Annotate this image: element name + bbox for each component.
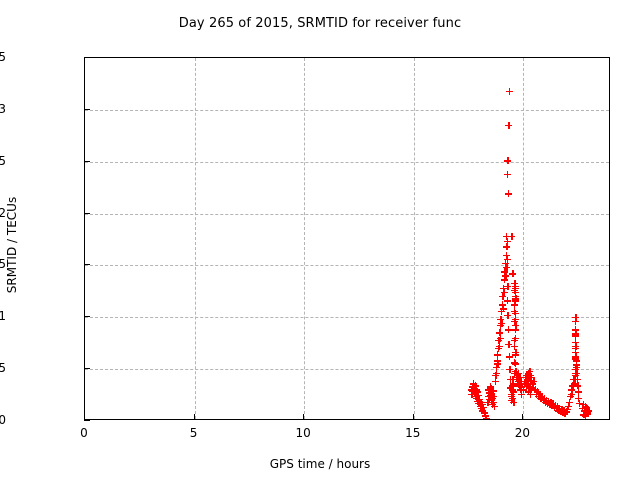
data-point bbox=[501, 276, 508, 283]
data-point bbox=[536, 391, 543, 398]
data-point bbox=[512, 322, 519, 329]
data-point bbox=[504, 283, 511, 290]
y-tick-label: 1.5 bbox=[0, 257, 6, 271]
data-point bbox=[471, 385, 478, 392]
data-point bbox=[551, 404, 558, 411]
data-point bbox=[509, 270, 516, 277]
data-point bbox=[488, 391, 495, 398]
data-point bbox=[491, 403, 498, 410]
data-point bbox=[572, 370, 579, 377]
data-point bbox=[535, 393, 542, 400]
data-point bbox=[585, 407, 592, 414]
data-point bbox=[573, 361, 580, 368]
data-point bbox=[525, 370, 532, 377]
data-point bbox=[494, 360, 501, 367]
data-point bbox=[483, 418, 490, 421]
data-point bbox=[584, 408, 591, 415]
data-point bbox=[503, 252, 510, 259]
data-point bbox=[469, 383, 476, 390]
data-point bbox=[516, 374, 523, 381]
data-point bbox=[515, 370, 522, 377]
x-tick-label: 5 bbox=[190, 426, 198, 440]
data-point bbox=[575, 395, 582, 402]
data-point bbox=[511, 343, 518, 350]
data-point bbox=[580, 411, 587, 418]
x-tick-label: 0 bbox=[80, 426, 88, 440]
data-point bbox=[469, 387, 476, 394]
data-point bbox=[572, 330, 579, 337]
data-point bbox=[504, 171, 511, 178]
data-point bbox=[515, 376, 522, 383]
data-point bbox=[512, 289, 519, 296]
data-point bbox=[515, 378, 522, 385]
plot-area bbox=[84, 57, 610, 420]
data-point bbox=[574, 376, 581, 383]
data-point bbox=[527, 378, 534, 385]
data-point bbox=[543, 397, 550, 404]
data-point bbox=[575, 388, 582, 395]
data-point bbox=[556, 405, 563, 412]
data-point bbox=[492, 378, 499, 385]
data-point bbox=[506, 88, 513, 95]
x-tick-mark bbox=[84, 414, 85, 420]
data-point bbox=[505, 190, 512, 197]
data-point bbox=[486, 389, 493, 396]
data-point bbox=[499, 293, 506, 300]
data-point bbox=[572, 326, 579, 333]
data-point bbox=[508, 391, 515, 398]
data-point bbox=[472, 393, 479, 400]
data-point bbox=[580, 401, 587, 408]
y-tick-mark bbox=[84, 57, 90, 58]
data-point bbox=[475, 400, 482, 407]
x-tick-label: 15 bbox=[405, 426, 420, 440]
data-point bbox=[481, 409, 488, 416]
data-point bbox=[488, 397, 495, 404]
data-point bbox=[494, 357, 501, 364]
data-point bbox=[483, 416, 490, 420]
data-point bbox=[508, 397, 515, 404]
data-point bbox=[474, 388, 481, 395]
data-point bbox=[504, 297, 511, 304]
data-point bbox=[487, 383, 494, 390]
data-point bbox=[583, 405, 590, 412]
y-tick-mark bbox=[84, 213, 90, 214]
data-point bbox=[507, 384, 514, 391]
data-point bbox=[500, 285, 507, 292]
data-point bbox=[512, 349, 519, 356]
data-point bbox=[546, 401, 553, 408]
data-point bbox=[529, 384, 536, 391]
data-point bbox=[477, 403, 484, 410]
gridline-horizontal bbox=[85, 369, 609, 370]
data-point bbox=[584, 410, 591, 417]
y-tick-mark bbox=[84, 264, 90, 265]
data-point bbox=[479, 401, 486, 408]
data-point bbox=[523, 372, 530, 379]
data-point bbox=[582, 403, 589, 410]
data-point bbox=[552, 402, 559, 409]
data-point bbox=[512, 297, 519, 304]
data-point bbox=[505, 341, 512, 348]
data-point bbox=[497, 322, 504, 329]
data-point bbox=[516, 382, 523, 389]
data-point bbox=[512, 285, 519, 292]
data-point bbox=[572, 318, 579, 325]
data-point bbox=[572, 332, 579, 339]
data-point bbox=[489, 401, 496, 408]
data-point bbox=[511, 337, 518, 344]
y-tick-label: 0.5 bbox=[0, 361, 6, 375]
data-point bbox=[530, 378, 537, 385]
data-point bbox=[473, 395, 480, 402]
data-point bbox=[509, 395, 516, 402]
x-tick-mark bbox=[522, 414, 523, 420]
data-point bbox=[554, 403, 561, 410]
data-point bbox=[511, 318, 518, 325]
data-point bbox=[499, 301, 506, 308]
data-point bbox=[512, 295, 519, 302]
data-point bbox=[468, 386, 475, 393]
data-point bbox=[484, 399, 491, 406]
gridline-horizontal bbox=[85, 317, 609, 318]
data-point bbox=[498, 320, 505, 327]
y-axis-label: SRMTID / TECUs bbox=[5, 65, 19, 425]
data-point bbox=[470, 380, 477, 387]
data-point bbox=[526, 384, 533, 391]
data-point bbox=[512, 293, 519, 300]
data-point bbox=[473, 386, 480, 393]
data-point bbox=[561, 410, 568, 417]
data-point bbox=[494, 351, 501, 358]
data-point bbox=[489, 395, 496, 402]
x-axis-label: GPS time / hours bbox=[0, 457, 640, 471]
data-point bbox=[480, 404, 487, 411]
data-point bbox=[538, 393, 545, 400]
data-point bbox=[573, 357, 580, 364]
data-point bbox=[501, 268, 508, 275]
data-point bbox=[498, 308, 505, 315]
data-point bbox=[504, 256, 511, 263]
data-point bbox=[503, 243, 510, 250]
y-tick-mark bbox=[84, 161, 90, 162]
data-point bbox=[579, 405, 586, 412]
x-tick-mark bbox=[194, 414, 195, 420]
data-point bbox=[495, 337, 502, 344]
data-point bbox=[510, 399, 517, 406]
gridline-vertical bbox=[195, 58, 196, 419]
data-point bbox=[565, 403, 572, 410]
data-point bbox=[474, 398, 481, 405]
data-point bbox=[493, 370, 500, 377]
data-point bbox=[555, 407, 562, 414]
data-point bbox=[547, 399, 554, 406]
data-point bbox=[505, 122, 512, 129]
data-point bbox=[478, 405, 485, 412]
data-point bbox=[511, 287, 518, 294]
data-point bbox=[512, 326, 519, 333]
gridline-horizontal bbox=[85, 214, 609, 215]
data-point bbox=[501, 289, 508, 296]
y-tick-label: 2.5 bbox=[0, 154, 6, 168]
data-point bbox=[487, 385, 494, 392]
data-point bbox=[582, 412, 589, 419]
data-point bbox=[570, 376, 577, 383]
data-point bbox=[572, 343, 579, 350]
y-tick-mark bbox=[84, 420, 90, 421]
data-point bbox=[510, 380, 517, 387]
data-point bbox=[572, 355, 579, 362]
data-point bbox=[568, 391, 575, 398]
data-point bbox=[511, 359, 518, 366]
data-point bbox=[497, 335, 504, 342]
data-point bbox=[513, 374, 520, 381]
gridline-vertical bbox=[523, 58, 524, 419]
gridline-vertical bbox=[304, 58, 305, 419]
data-point bbox=[512, 351, 519, 358]
data-point bbox=[496, 343, 503, 350]
data-point bbox=[506, 353, 513, 360]
gridline-horizontal bbox=[85, 162, 609, 163]
data-point bbox=[482, 412, 489, 419]
data-point bbox=[490, 387, 497, 394]
data-point bbox=[500, 305, 507, 312]
data-point bbox=[496, 329, 503, 336]
data-point bbox=[528, 374, 535, 381]
data-point bbox=[572, 349, 579, 356]
data-point bbox=[512, 310, 519, 317]
y-tick-label: 3 bbox=[0, 102, 6, 116]
data-point bbox=[524, 382, 531, 389]
data-point bbox=[511, 280, 518, 287]
data-point bbox=[581, 407, 588, 414]
data-point bbox=[511, 308, 518, 315]
data-point bbox=[503, 233, 510, 240]
data-point bbox=[477, 399, 484, 406]
y-tick-mark bbox=[84, 368, 90, 369]
data-point bbox=[574, 382, 581, 389]
data-point bbox=[505, 326, 512, 333]
data-point bbox=[490, 393, 497, 400]
data-point bbox=[486, 396, 493, 403]
data-point bbox=[472, 382, 479, 389]
data-point bbox=[572, 353, 579, 360]
data-point bbox=[476, 396, 483, 403]
data-point bbox=[572, 372, 579, 379]
data-point bbox=[508, 393, 515, 400]
data-point bbox=[568, 386, 575, 393]
y-tick-label: 3.5 bbox=[0, 50, 6, 64]
data-point bbox=[525, 388, 532, 395]
gridline-vertical bbox=[414, 58, 415, 419]
data-point bbox=[542, 399, 549, 406]
data-point bbox=[492, 372, 499, 379]
data-point bbox=[571, 380, 578, 387]
x-tick-mark bbox=[413, 414, 414, 420]
data-point bbox=[495, 345, 502, 352]
data-point bbox=[532, 386, 539, 393]
y-tick-label: 0 bbox=[0, 413, 6, 427]
gridline-horizontal bbox=[85, 265, 609, 266]
data-point bbox=[564, 406, 571, 413]
x-tick-label: 20 bbox=[515, 426, 530, 440]
data-point bbox=[504, 157, 511, 164]
data-point bbox=[509, 386, 516, 393]
data-point bbox=[567, 393, 574, 400]
data-point bbox=[548, 402, 555, 409]
data-point bbox=[509, 376, 516, 383]
data-point bbox=[483, 415, 490, 420]
data-point bbox=[526, 374, 533, 381]
data-point bbox=[557, 408, 564, 415]
data-point bbox=[569, 382, 576, 389]
data-point bbox=[514, 380, 521, 387]
data-point bbox=[514, 372, 521, 379]
data-point bbox=[528, 386, 535, 393]
data-point bbox=[563, 408, 570, 415]
data-point bbox=[512, 360, 519, 367]
data-point bbox=[471, 389, 478, 396]
data-point bbox=[540, 397, 547, 404]
data-point bbox=[559, 409, 566, 416]
y-tick-mark bbox=[84, 109, 90, 110]
data-point bbox=[479, 407, 486, 414]
data-point bbox=[558, 406, 565, 413]
data-point bbox=[508, 233, 515, 240]
data-point bbox=[512, 283, 519, 290]
x-tick-mark bbox=[303, 414, 304, 420]
data-point bbox=[485, 386, 492, 393]
data-point bbox=[487, 392, 494, 399]
gridline-horizontal bbox=[85, 110, 609, 111]
data-point bbox=[576, 400, 583, 407]
data-point bbox=[511, 301, 518, 308]
data-point bbox=[541, 395, 548, 402]
data-point bbox=[553, 405, 560, 412]
data-point bbox=[527, 372, 534, 379]
x-tick-label: 10 bbox=[296, 426, 311, 440]
data-point bbox=[544, 400, 551, 407]
data-point bbox=[572, 345, 579, 352]
data-point bbox=[549, 400, 556, 407]
data-point bbox=[533, 391, 540, 398]
data-point bbox=[475, 392, 482, 399]
data-point bbox=[510, 388, 517, 395]
data-point bbox=[545, 398, 552, 405]
y-tick-label: 1 bbox=[0, 309, 6, 323]
data-point bbox=[572, 339, 579, 346]
y-tick-label: 2 bbox=[0, 206, 6, 220]
chart-title: Day 265 of 2015, SRMTID for receiver fun… bbox=[0, 16, 640, 31]
data-point bbox=[583, 409, 590, 416]
data-point bbox=[529, 380, 536, 387]
data-point bbox=[573, 370, 580, 377]
data-point bbox=[534, 388, 541, 395]
data-point bbox=[527, 391, 534, 398]
data-point bbox=[490, 399, 497, 406]
data-point bbox=[485, 393, 492, 400]
data-point bbox=[512, 335, 519, 342]
data-point bbox=[566, 399, 573, 406]
data-point bbox=[511, 370, 518, 377]
data-point bbox=[504, 238, 511, 245]
data-point bbox=[509, 382, 516, 389]
data-point bbox=[537, 395, 544, 402]
data-point bbox=[502, 272, 509, 279]
data-point bbox=[468, 391, 475, 398]
chart-figure: Day 265 of 2015, SRMTID for receiver fun… bbox=[0, 0, 640, 480]
data-point bbox=[507, 376, 514, 383]
data-point bbox=[524, 376, 531, 383]
data-point bbox=[560, 407, 567, 414]
y-tick-mark bbox=[84, 316, 90, 317]
